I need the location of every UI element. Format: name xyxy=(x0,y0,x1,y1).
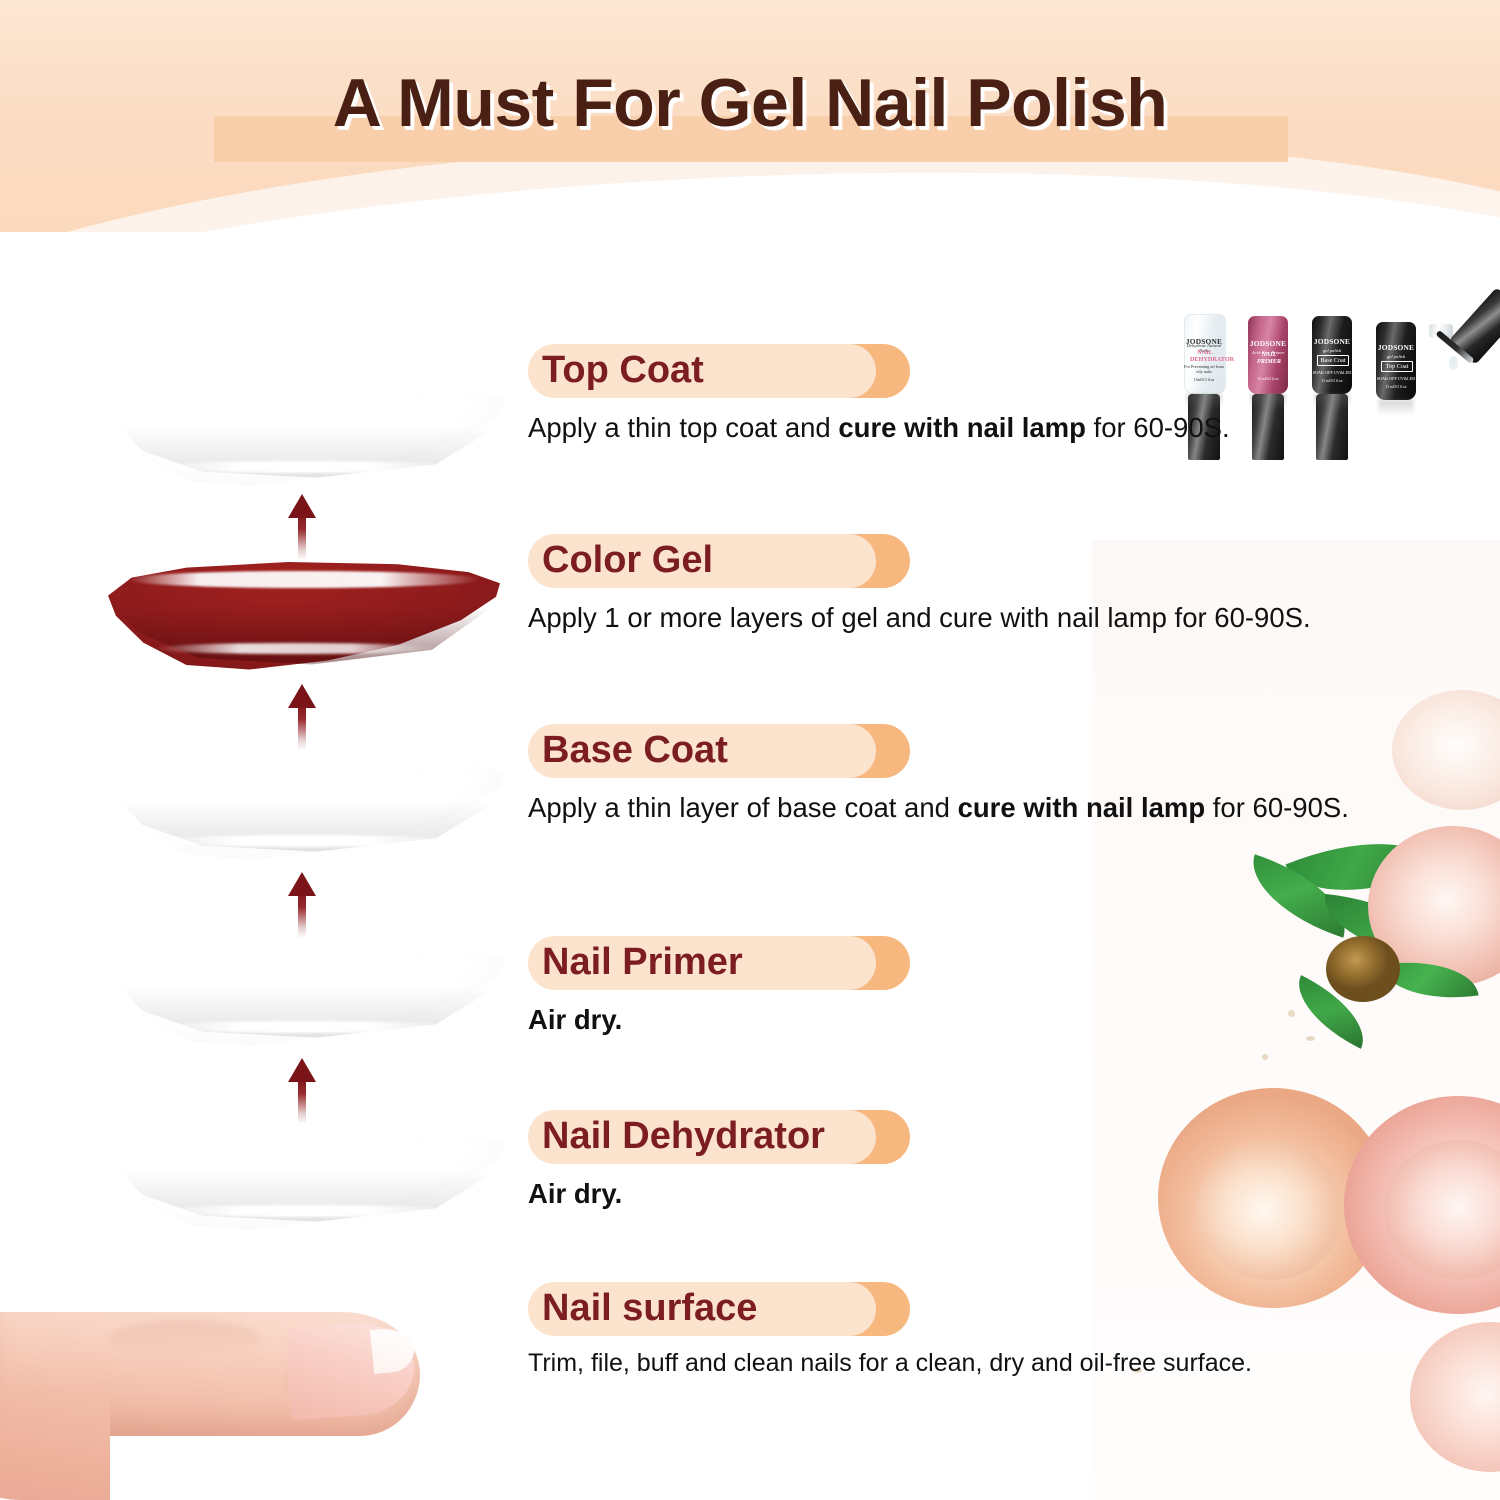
desc-pre: Apply 1 or more layers of gel and cure w… xyxy=(528,602,1311,633)
step-description: Air dry. xyxy=(528,1174,1358,1213)
step-badge: Color Gel xyxy=(528,534,910,588)
step-color-gel: Color Gel Apply 1 or more layers of gel … xyxy=(528,534,1358,637)
desc-post: for 60-90S. xyxy=(1205,792,1349,823)
desc-bold: Air dry. xyxy=(528,1178,622,1209)
finger-crease xyxy=(110,1320,260,1356)
desc-pre: Apply a thin top coat and xyxy=(528,412,838,443)
step-description: Air dry. xyxy=(528,1000,1358,1039)
step-base-coat: Base Coat Apply a thin layer of base coa… xyxy=(528,724,1358,827)
arrow-up-icon xyxy=(285,872,319,938)
step-badge: Nail Primer xyxy=(528,936,910,990)
layer-gloss-top xyxy=(128,571,481,588)
desc-bold: cure with nail lamp xyxy=(838,412,1086,443)
layer-gloss-bottom xyxy=(147,1205,461,1217)
desc-bold: cure with nail lamp xyxy=(958,792,1206,823)
step-description: Trim, file, buff and clean nails for a c… xyxy=(528,1346,1358,1382)
arrow-head xyxy=(288,684,316,708)
step-label: Nail surface xyxy=(542,1282,757,1336)
step-badge: Nail Dehydrator xyxy=(528,1110,910,1164)
petal-speck xyxy=(1262,1054,1268,1060)
arrow-up-icon xyxy=(285,1058,319,1124)
step-badge: Base Coat xyxy=(528,724,910,778)
bottle-product-name: Top Coat xyxy=(1381,361,1413,372)
finger-base xyxy=(0,1390,110,1500)
desc-pre: Apply a thin layer of base coat and xyxy=(528,792,958,823)
layer-gloss-top xyxy=(128,388,489,406)
bottle-cure-text: SOAK OFF UV&LED xyxy=(1376,376,1416,381)
bottle-volume: 15 ml/0.5 fl.oz xyxy=(1376,385,1416,389)
step-label: Base Coat xyxy=(542,724,728,778)
step-label: Nail Primer xyxy=(542,936,743,990)
layer-gloss-bottom xyxy=(147,835,461,847)
step-badge: Top Coat xyxy=(528,344,910,398)
step-nail-surface: Nail surface Trim, file, buff and clean … xyxy=(528,1282,1358,1382)
open-bottle-with-brush xyxy=(1420,300,1498,396)
step-nail-primer: Nail Primer Air dry. xyxy=(528,936,1358,1039)
arrow-head xyxy=(288,872,316,896)
polish-drip xyxy=(1449,356,1458,370)
layer-gloss-top xyxy=(128,762,489,780)
arrow-up-icon xyxy=(285,684,319,750)
step-description: Apply a thin layer of base coat and cure… xyxy=(528,788,1358,827)
step-label: Color Gel xyxy=(542,534,713,588)
infographic-canvas: A Must For Gel Nail Polish JODSONE Dehyd… xyxy=(0,0,1500,1500)
bottle-cap-open-icon xyxy=(1449,287,1500,365)
nail-layer-top-coat xyxy=(112,378,504,490)
bottle-brand: JODSONE xyxy=(1376,343,1416,352)
layer-gloss-bottom xyxy=(155,643,437,654)
step-description: Apply 1 or more layers of gel and cure w… xyxy=(528,598,1358,637)
nail-layer-base-coat xyxy=(112,752,504,864)
bottle-subtitle: gel polish xyxy=(1376,354,1416,359)
nail-layer-dehydrator xyxy=(112,1122,504,1234)
layer-gloss-top xyxy=(128,948,489,966)
layer-gloss-top xyxy=(128,1132,489,1150)
layer-gloss-bottom xyxy=(147,461,461,473)
step-top-coat: Top Coat Apply a thin top coat and cure … xyxy=(528,344,1358,447)
nail-layer-color-gel xyxy=(108,562,500,674)
desc-pre: Trim, file, buff and clean nails for a c… xyxy=(528,1349,1252,1377)
step-nail-dehydrator: Nail Dehydrator Air dry. xyxy=(528,1110,1358,1213)
desc-bold: Air dry. xyxy=(528,1004,622,1035)
step-description: Apply a thin top coat and cure with nail… xyxy=(528,408,1358,447)
nail-layer-primer xyxy=(112,938,504,1050)
arrow-head xyxy=(288,494,316,518)
step-label: Nail Dehydrator xyxy=(542,1110,825,1164)
desc-post: for 60-90S. xyxy=(1086,412,1230,443)
layer-gloss-bottom xyxy=(147,1021,461,1033)
bottle-reflection xyxy=(1378,400,1414,416)
step-badge: Nail surface xyxy=(528,1282,910,1336)
fingertip-photo xyxy=(0,1294,510,1500)
arrow-head xyxy=(288,1058,316,1082)
arrow-up-icon xyxy=(285,494,319,560)
page-title: A Must For Gel Nail Polish xyxy=(0,64,1500,142)
step-label: Top Coat xyxy=(542,344,704,398)
